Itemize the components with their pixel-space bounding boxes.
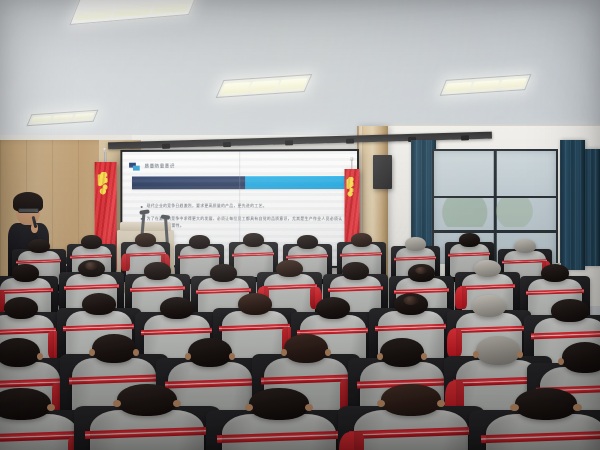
bullet-dot-icon — [141, 205, 143, 207]
head — [81, 235, 101, 249]
head — [4, 297, 38, 320]
head — [82, 293, 116, 316]
slide-title: 质量防患意识 — [144, 163, 174, 169]
head — [514, 239, 536, 254]
head — [188, 338, 232, 367]
eyeglasses-icon — [18, 208, 40, 213]
head — [342, 262, 369, 280]
head — [562, 342, 600, 372]
head — [297, 235, 317, 249]
head — [394, 293, 428, 316]
flag-stars-icon — [347, 177, 354, 197]
head — [189, 235, 209, 249]
uniform-torso — [354, 410, 468, 450]
head — [117, 384, 176, 416]
head — [381, 384, 440, 416]
window-foliage — [441, 198, 548, 227]
head — [541, 264, 569, 283]
head — [474, 260, 501, 278]
bullet-text: 为了在激烈的竞争中求得更大的发展，必须让每位员工都具有自觉的品质意识，尤其是生产… — [146, 215, 342, 229]
head — [0, 388, 51, 420]
slide-bullet: 为了在激烈的竞争中求得更大的发展，必须让每位员工都具有自觉的品质意识，尤其是生产… — [141, 215, 343, 229]
head — [160, 297, 194, 320]
head — [476, 336, 520, 365]
audience — [0, 243, 600, 450]
flag-stars-icon — [98, 172, 108, 196]
audience-member — [354, 384, 468, 450]
meeting-room-photo: 质量防患意识 现代企业的竞争日趋激烈，要求更高质量的产品，更先进的工艺。 为了在… — [0, 0, 600, 450]
head — [92, 334, 136, 363]
head — [12, 264, 39, 282]
wall-speaker-icon — [373, 155, 392, 189]
head — [238, 293, 272, 316]
head — [551, 299, 588, 322]
head — [515, 388, 577, 420]
audience-member — [222, 388, 336, 450]
head — [243, 233, 263, 247]
flag-finial — [350, 157, 354, 161]
head — [135, 233, 155, 247]
uniform-torso — [90, 410, 204, 450]
head — [380, 338, 424, 367]
blue-square-logo-icon — [129, 162, 141, 171]
head — [28, 239, 50, 254]
head — [351, 233, 371, 247]
head — [405, 237, 425, 251]
slide-bullet: 现代企业的竞争日趋激烈，要求更高质量的产品，更先进的工艺。 — [141, 203, 343, 210]
head — [408, 264, 435, 282]
head — [144, 262, 171, 280]
head — [0, 338, 40, 367]
head — [459, 233, 479, 247]
head — [210, 264, 237, 282]
audience-member — [486, 388, 600, 450]
head — [316, 297, 350, 320]
head — [78, 260, 105, 278]
flag-finial — [103, 148, 107, 152]
head — [276, 260, 303, 278]
head — [284, 334, 328, 363]
bullet-text: 现代企业的竞争日趋激烈，要求更高质量的产品，更先进的工艺。 — [146, 203, 266, 210]
head — [472, 295, 506, 318]
audience-member — [0, 388, 78, 450]
head — [249, 388, 308, 420]
audience-member — [90, 384, 204, 450]
